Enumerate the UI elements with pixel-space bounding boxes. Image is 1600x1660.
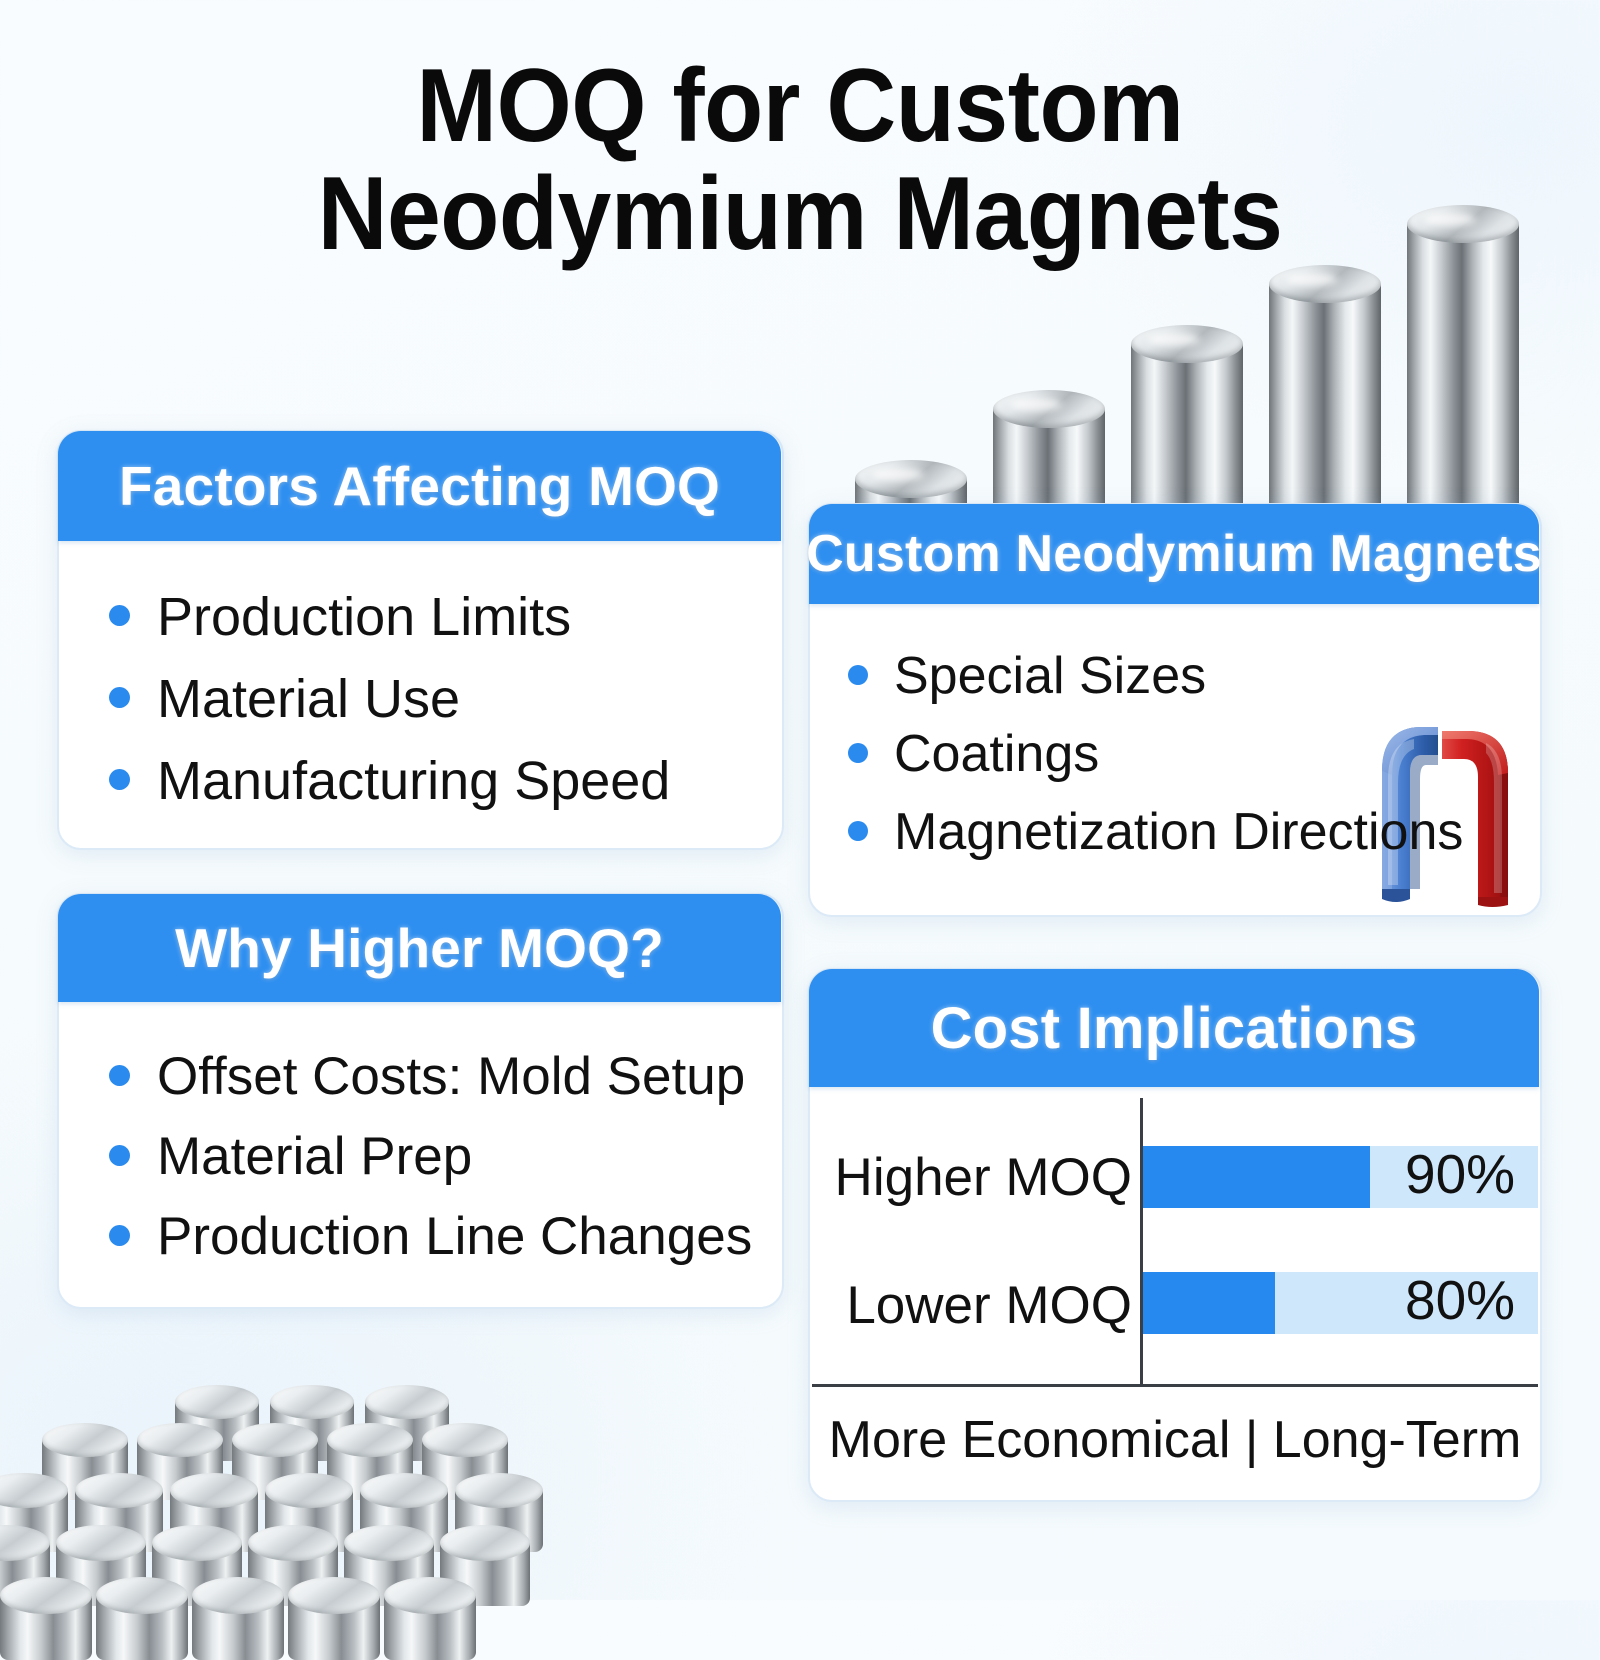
list-item-label: Material Prep: [157, 1123, 472, 1191]
card-factors-affecting-moq: Factors Affecting MOQ Production Limits …: [57, 430, 784, 850]
card-cost-implications: Cost Implications Higher MOQ 90% Lower M…: [808, 968, 1542, 1502]
bullet-dot-icon: [109, 769, 130, 790]
disc-top: [96, 1577, 188, 1614]
list-item: Offset Costs: Mold Setup: [59, 1043, 782, 1123]
bullet-dot-icon: [848, 743, 868, 763]
disc-top: [422, 1423, 508, 1457]
list-item: Special Sizes: [810, 643, 1540, 721]
card-why-higher-header-label: Why Higher MOQ?: [175, 916, 664, 980]
disc-top: [265, 1473, 353, 1508]
bullet-dot-icon: [848, 821, 868, 841]
disc-top: [288, 1577, 380, 1614]
list-item: Magnetization Directions: [810, 799, 1540, 877]
chart-value-label: 80%: [1405, 1268, 1515, 1332]
list-item-label: Coatings: [894, 721, 1099, 787]
chart-row-lower-moq: Lower MOQ 80%: [810, 1256, 1540, 1354]
disc-top: [0, 1577, 92, 1614]
list-item: Material Use: [59, 664, 782, 746]
cost-footnote: More Economical | Long-Term: [810, 1410, 1540, 1470]
disc-top: [344, 1525, 434, 1561]
card-custom-magnets-header-label: Custom Neodymium Magnets: [806, 524, 1542, 584]
disc-magnet: [192, 1577, 284, 1660]
disc-top: [56, 1525, 146, 1561]
card-custom-magnets-bullet-list: Special Sizes Coatings Magnetization Dir…: [810, 643, 1540, 877]
disc-magnet: [0, 1577, 92, 1660]
chart-row-higher-moq: Higher MOQ 90%: [810, 1128, 1540, 1226]
bullet-dot-icon: [109, 1225, 130, 1246]
list-item-label: Production Line Changes: [157, 1203, 752, 1271]
card-why-higher-moq: Why Higher MOQ? Offset Costs: Mold Setup…: [57, 893, 784, 1309]
disc-top: [440, 1525, 530, 1561]
cylinder-top-ellipse: [1269, 265, 1381, 303]
chart-value-label: 90%: [1405, 1142, 1515, 1206]
card-cost-header-label: Cost Implications: [931, 995, 1418, 1062]
disc-magnet: [384, 1577, 476, 1660]
disc-top: [192, 1577, 284, 1614]
cylinder-top-ellipse: [1131, 325, 1243, 363]
list-item-label: Production Limits: [157, 582, 571, 652]
disc-top: [175, 1385, 259, 1419]
disc-top: [384, 1577, 476, 1614]
bullet-dot-icon: [109, 1145, 130, 1166]
card-cost-header: Cost Implications: [809, 969, 1539, 1087]
card-why-higher-header: Why Higher MOQ?: [58, 894, 781, 1002]
disc-top: [270, 1385, 354, 1419]
card-factors-header: Factors Affecting MOQ: [58, 431, 781, 541]
list-item-label: Special Sizes: [894, 643, 1206, 709]
disc-top: [170, 1473, 258, 1508]
disc-top: [327, 1423, 413, 1457]
card-custom-neodymium-magnets: Custom Neodymium Magnets: [808, 503, 1542, 917]
card-factors-header-label: Factors Affecting MOQ: [119, 454, 720, 518]
list-item: Coatings: [810, 721, 1540, 799]
disc-top: [360, 1473, 448, 1508]
card-why-higher-bullet-list: Offset Costs: Mold Setup Material Prep P…: [59, 1043, 782, 1283]
bullet-dot-icon: [109, 605, 130, 626]
disc-top: [232, 1423, 318, 1457]
list-item: Production Limits: [59, 582, 782, 664]
list-item-label: Material Use: [157, 664, 460, 734]
card-custom-magnets-header: Custom Neodymium Magnets: [809, 504, 1539, 604]
bullet-dot-icon: [109, 687, 130, 708]
list-item-label: Manufacturing Speed: [157, 746, 670, 816]
disc-magnet: [96, 1577, 188, 1660]
title-line-1: MOQ for Custom: [416, 48, 1183, 164]
cylinder-top-ellipse: [1407, 205, 1519, 243]
cost-implications-bar-chart: Higher MOQ 90% Lower MOQ 80%: [810, 1088, 1540, 1388]
list-item: Manufacturing Speed: [59, 746, 782, 828]
disc-top: [152, 1525, 242, 1561]
chart-bar-fill: [1143, 1272, 1275, 1334]
bullet-dot-icon: [848, 665, 868, 685]
chart-x-axis: [812, 1384, 1538, 1387]
disc-magnet: [288, 1577, 380, 1660]
chart-bar-fill: [1143, 1146, 1370, 1208]
cylinder-top-ellipse: [993, 390, 1105, 428]
card-factors-bullet-list: Production Limits Material Use Manufactu…: [59, 582, 782, 828]
disc-top: [75, 1473, 163, 1508]
chart-category-label: Higher MOQ: [810, 1147, 1132, 1208]
disc-top: [455, 1473, 543, 1508]
list-item: Material Prep: [59, 1123, 782, 1203]
bullet-dot-icon: [109, 1065, 130, 1086]
disc-top: [42, 1423, 128, 1457]
list-item-label: Offset Costs: Mold Setup: [157, 1043, 745, 1111]
cylinder-top-ellipse: [855, 460, 967, 498]
disc-top: [365, 1385, 449, 1419]
disc-magnet-cluster-graphic: [0, 1345, 490, 1605]
disc-top: [248, 1525, 338, 1561]
list-item-label: Magnetization Directions: [894, 799, 1463, 865]
disc-top: [137, 1423, 223, 1457]
chart-category-label: Lower MOQ: [810, 1275, 1132, 1336]
list-item: Production Line Changes: [59, 1203, 782, 1283]
